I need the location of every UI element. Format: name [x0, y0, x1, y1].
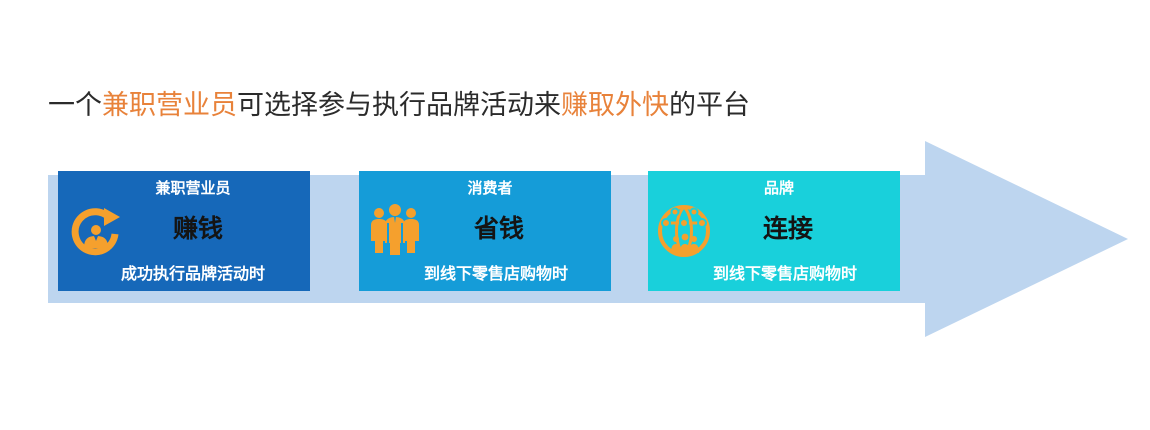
card-title: 消费者	[359, 177, 611, 198]
card-title: 品牌	[648, 177, 900, 198]
card-row: 兼职营业员 赚钱 成功执行品牌活动时	[58, 171, 908, 291]
slide-canvas: 一个兼职营业员可选择参与执行品牌活动来赚取外快的平台 兼职营业	[0, 0, 1150, 430]
card-footnote: 到线下零售店购物时	[648, 260, 900, 284]
card-part-time-salesperson[interactable]: 兼职营业员 赚钱 成功执行品牌活动时	[58, 171, 310, 291]
card-footnote: 到线下零售店购物时	[359, 260, 611, 284]
headline-segment-3: 可选择参与执行品牌活动来	[237, 90, 561, 120]
headline-segment-1: 一个	[48, 90, 102, 120]
headline-segment-2-accent: 兼职营业员	[102, 90, 237, 120]
card-value: 连接	[648, 209, 900, 245]
card-title: 兼职营业员	[58, 177, 310, 198]
card-consumer[interactable]: 消费者 省钱 到线下零售店购物时	[359, 171, 611, 291]
card-value: 省钱	[359, 209, 611, 245]
headline-segment-4-accent: 赚取外快	[561, 90, 669, 120]
card-value: 赚钱	[58, 209, 310, 245]
page-title: 一个兼职营业员可选择参与执行品牌活动来赚取外快的平台	[48, 86, 750, 124]
card-footnote: 成功执行品牌活动时	[58, 260, 310, 284]
card-brand[interactable]: 品牌 连接 到线下零售店购物时	[648, 171, 900, 291]
headline-segment-5: 的平台	[669, 90, 750, 120]
